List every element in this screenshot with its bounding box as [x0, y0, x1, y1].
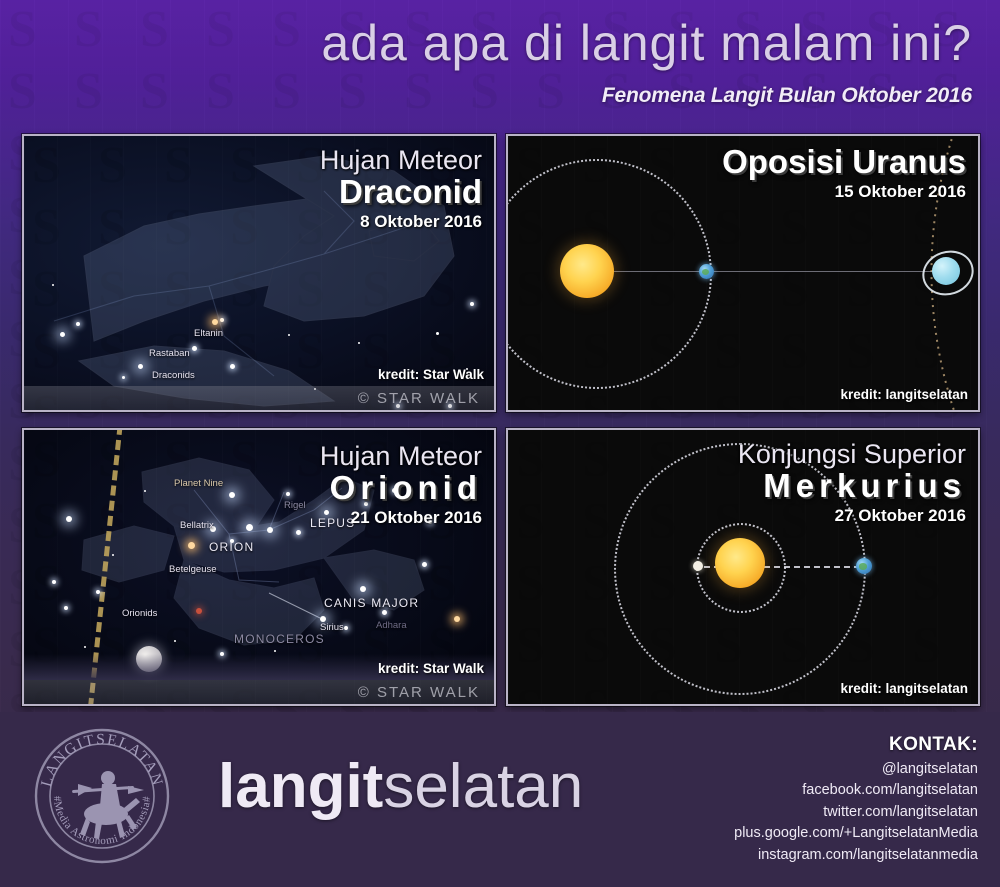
opposition-alignment-line [596, 271, 948, 272]
star [96, 590, 100, 594]
star [60, 332, 65, 337]
star [138, 364, 143, 369]
star-bellatrix [210, 526, 216, 532]
contact-block: KONTAK: @langitselatan facebook.com/lang… [734, 734, 978, 866]
panel-credit: kredit: Star Walk [378, 367, 484, 382]
star [66, 516, 72, 522]
panel-credit: kredit: langitselatan [840, 681, 968, 696]
star [144, 490, 146, 492]
star [230, 539, 234, 543]
earth [699, 264, 714, 279]
star-eltanin [212, 319, 218, 325]
star [392, 488, 397, 493]
poster-root: S ada apa di langit malam ini? Fenomena … [0, 0, 1000, 887]
star [84, 410, 86, 412]
star [52, 580, 56, 584]
contact-twitter[interactable]: twitter.com/langitselatan [734, 802, 978, 823]
earth [856, 558, 872, 574]
star-adhara [382, 610, 387, 615]
star-sirius [320, 616, 326, 622]
star-rigel [286, 492, 290, 496]
star [274, 650, 276, 652]
star [288, 334, 290, 336]
mercury [693, 561, 703, 571]
star [246, 524, 253, 531]
star [220, 318, 224, 322]
star [84, 646, 86, 648]
star [428, 520, 432, 524]
panel-credit: kredit: langitselatan [840, 387, 968, 402]
panel-orionid[interactable]: Planet Nine Rigel Bellatrix ORION LEPUS … [22, 428, 496, 706]
star [229, 492, 235, 498]
star [454, 616, 460, 622]
contact-instagram[interactable]: instagram.com/langitselatanmedia [734, 845, 978, 866]
sun [715, 538, 765, 588]
poster-header: ada apa di langit malam ini? Fenomena La… [0, 0, 1000, 128]
star [64, 606, 68, 610]
panel-credit: kredit: Star Walk [378, 661, 484, 676]
star [296, 530, 301, 535]
star-radiant-orionids [196, 608, 202, 614]
poster-footer: LANGITSELATAN #Media Astronomi Indonesia… [0, 712, 1000, 887]
star [344, 626, 348, 630]
star [122, 376, 125, 379]
star [470, 302, 474, 306]
star [360, 586, 366, 592]
panel-konjungsi-merkurius[interactable]: Konjungsi Superior Merkurius 27 Oktober … [506, 428, 980, 706]
star [174, 640, 176, 642]
contact-handle[interactable]: @langitselatan [734, 759, 978, 780]
star [76, 322, 80, 326]
sagittarius-centaur-icon [72, 771, 144, 839]
panel-draconid[interactable]: Eltanin Rastaban Draconids Nodus Secundu… [22, 134, 496, 412]
contact-facebook[interactable]: facebook.com/langitselatan [734, 780, 978, 801]
wordmark-light: selatan [383, 752, 583, 821]
brand-wordmark: langitselatan [218, 756, 583, 818]
contact-title: KONTAK: [734, 734, 978, 756]
page-subtitle: Fenomena Langit Bulan Oktober 2016 [602, 84, 972, 108]
wordmark-bold: langit [218, 752, 383, 821]
star [267, 527, 273, 533]
star-betelgeuse [188, 542, 195, 549]
star [436, 332, 439, 335]
star [324, 510, 329, 515]
star [230, 364, 235, 369]
star [358, 342, 360, 344]
langitselatan-seal-logo: LANGITSELATAN #Media Astronomi Indonesia… [32, 726, 172, 866]
panel-oposisi-uranus[interactable]: Oposisi Uranus 15 Oktober 2016 kredit: l… [506, 134, 980, 412]
star-rastaban [192, 346, 197, 351]
page-title: ada apa di langit malam ini? [321, 18, 972, 68]
star [422, 562, 427, 567]
starwalk-watermark: © STAR WALK [358, 684, 480, 701]
star [52, 284, 54, 286]
contact-googleplus[interactable]: plus.google.com/+LangitselatanMedia [734, 823, 978, 844]
sun [560, 244, 614, 298]
star [112, 554, 114, 556]
star [364, 502, 368, 506]
starwalk-watermark: © STAR WALK [358, 390, 480, 407]
